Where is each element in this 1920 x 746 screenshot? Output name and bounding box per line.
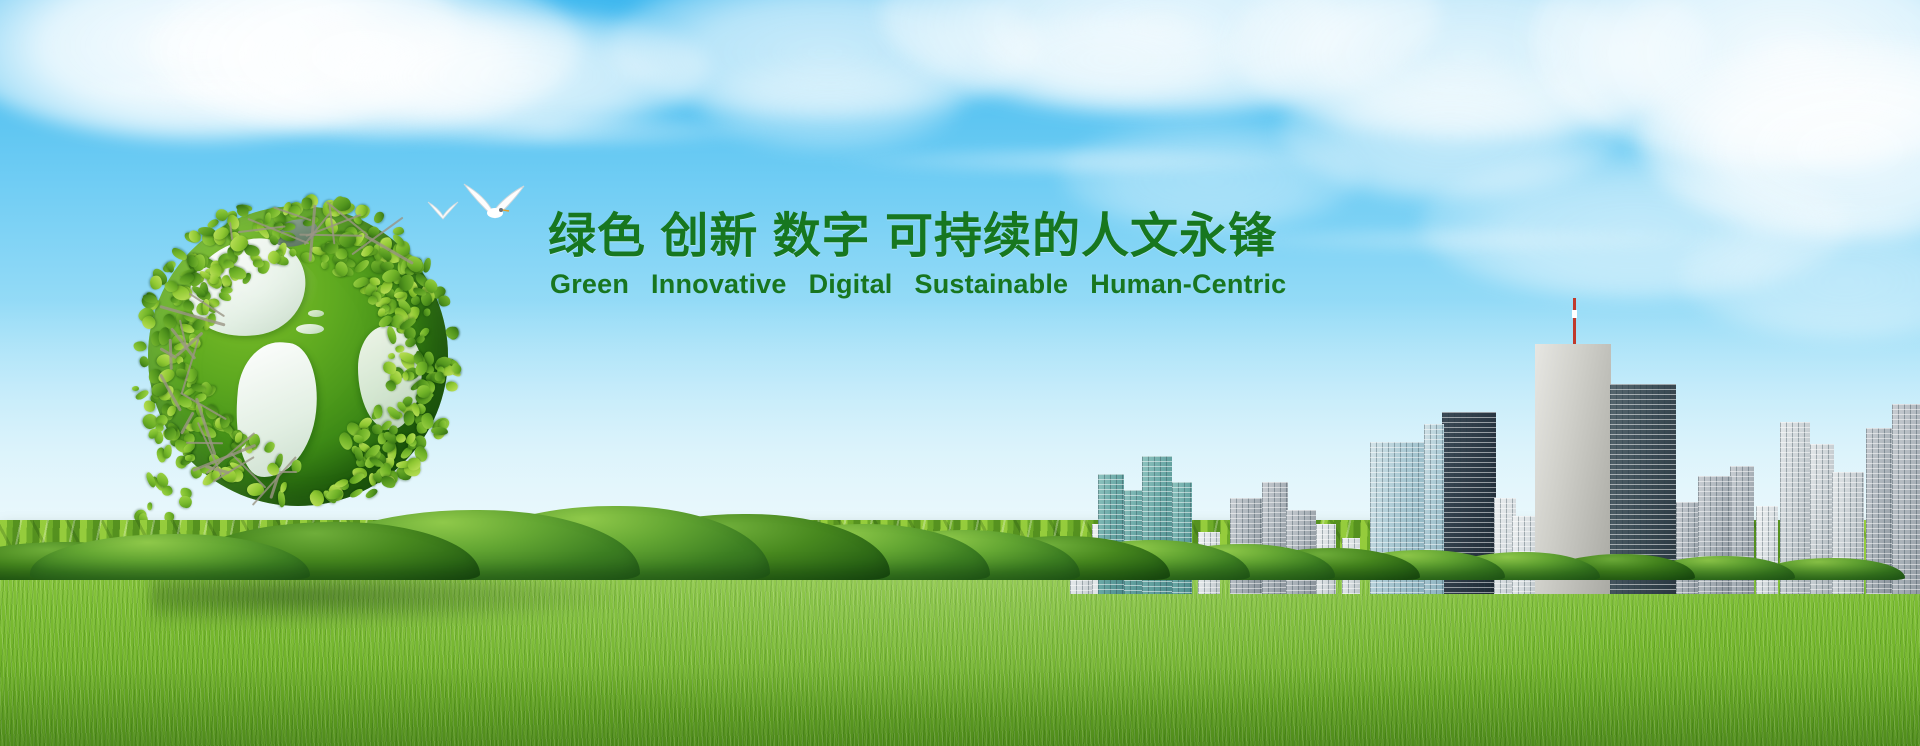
subtitle-word-innovative: Innovative <box>651 269 787 300</box>
banner-copy: 绿色 创新 数字 可持续的人文永锋 GreenInnovativeDigital… <box>548 212 1308 300</box>
leaf <box>134 341 147 351</box>
cloud-wisp <box>320 118 780 144</box>
building <box>1756 506 1778 594</box>
leaf <box>165 281 179 292</box>
building <box>1892 404 1920 594</box>
subtitle-word-digital: Digital <box>809 269 893 300</box>
leaf <box>373 404 383 419</box>
page-subtitle: GreenInnovativeDigitalSustainableHuman-C… <box>550 269 1308 300</box>
island <box>296 324 324 334</box>
cloud-wisp <box>60 80 360 98</box>
leaf <box>388 353 395 359</box>
red-antenna-mast <box>1573 298 1576 344</box>
leaf <box>395 434 405 443</box>
leaf <box>372 210 386 225</box>
leaf <box>411 296 420 305</box>
leaf <box>394 345 404 353</box>
falling-leaf <box>163 444 173 459</box>
subtitle-word-sustainable: Sustainable <box>915 269 1069 300</box>
subtitle-word-human-centric: Human-Centric <box>1090 269 1286 300</box>
grass-lawn <box>0 570 1920 746</box>
leaf <box>423 258 433 274</box>
page-title: 绿色 创新 数字 可持续的人文永锋 <box>548 212 1308 263</box>
falling-leaf <box>132 386 139 391</box>
leaf <box>438 295 450 306</box>
globe <box>126 176 486 524</box>
eco-banner: 绿色 创新 数字 可持续的人文永锋 GreenInnovativeDigital… <box>0 0 1920 746</box>
leaf <box>445 380 458 392</box>
leaf <box>149 275 162 290</box>
cloud-wisp <box>820 150 1340 172</box>
subtitle-word-green: Green <box>550 269 629 300</box>
leaf <box>222 275 231 287</box>
